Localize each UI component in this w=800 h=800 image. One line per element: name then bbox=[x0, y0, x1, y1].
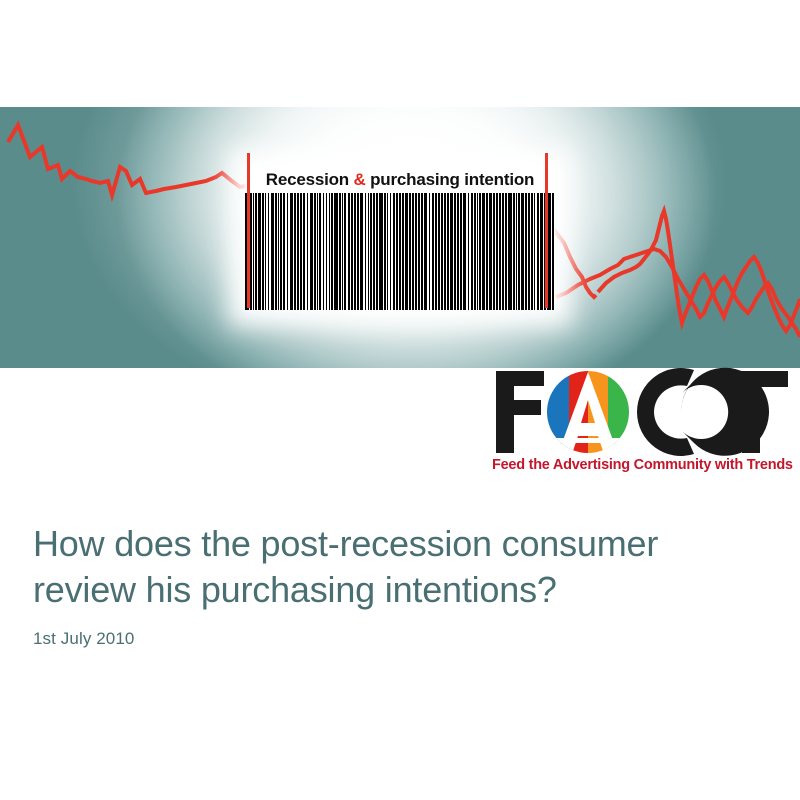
barcode-bar bbox=[412, 193, 414, 310]
barcode-bar bbox=[290, 193, 294, 310]
barcode-bar bbox=[516, 193, 517, 310]
barcode-graphic: Recession & purchasing intention bbox=[245, 167, 555, 310]
barcode-bar bbox=[314, 193, 316, 310]
barcode-bar bbox=[307, 193, 309, 310]
barcode-bar bbox=[376, 193, 378, 310]
barcode-bar bbox=[334, 193, 338, 310]
fact-tagline: Feed the Advertising Community with Tren… bbox=[492, 457, 792, 473]
barcode-bar bbox=[518, 193, 520, 310]
barcode-bar bbox=[265, 193, 266, 310]
barcode-bar bbox=[317, 193, 318, 310]
barcode-bar bbox=[268, 193, 270, 310]
barcode-bar bbox=[326, 193, 328, 310]
page-date: 1st July 2010 bbox=[33, 629, 763, 649]
logo-letter-a bbox=[547, 371, 631, 454]
barcode-bar bbox=[438, 193, 439, 310]
barcode-bar bbox=[540, 193, 543, 310]
barcode-bar bbox=[468, 193, 470, 310]
barcode-bar bbox=[450, 193, 453, 310]
barcode-bars bbox=[245, 193, 555, 310]
logo-letter-f bbox=[496, 371, 544, 453]
barcode-bar bbox=[390, 193, 392, 310]
barcode-bar bbox=[357, 193, 359, 310]
barcode-bar bbox=[418, 193, 419, 310]
barcode-bar bbox=[552, 193, 554, 310]
barcode-bar bbox=[379, 193, 383, 310]
barcode-bar bbox=[373, 193, 375, 310]
barcode-bar bbox=[393, 193, 395, 310]
barcode-bar bbox=[250, 193, 252, 310]
barcode-bar bbox=[253, 193, 254, 310]
barcode-bar bbox=[424, 193, 428, 310]
barcode-bar bbox=[513, 193, 515, 310]
barcode-bar bbox=[505, 193, 507, 310]
barcode-bar bbox=[319, 193, 321, 310]
barcode-bar bbox=[493, 193, 495, 310]
barcode-bar bbox=[342, 193, 343, 310]
barcode-accent-line-left bbox=[247, 153, 250, 308]
barcode-bar bbox=[463, 193, 467, 310]
barcode-bar bbox=[429, 193, 431, 310]
barcode-bar bbox=[331, 193, 333, 310]
barcode-bar bbox=[421, 193, 423, 310]
barcode-bar bbox=[477, 193, 478, 310]
barcode-bar bbox=[370, 193, 372, 310]
barcode-bar bbox=[496, 193, 497, 310]
barcode-bar bbox=[454, 193, 456, 310]
barcode-bar bbox=[432, 193, 434, 310]
barcode-bar bbox=[521, 193, 523, 310]
barcode-bar bbox=[275, 193, 277, 310]
barcode-bar bbox=[460, 193, 462, 310]
barcode-title-ampersand: & bbox=[354, 170, 366, 189]
barcode-bar bbox=[339, 193, 341, 310]
barcode-bar bbox=[300, 193, 302, 310]
barcode-bar bbox=[402, 193, 404, 310]
barcode-bar bbox=[396, 193, 398, 310]
barcode-bar bbox=[474, 193, 476, 310]
barcode-bar bbox=[351, 193, 353, 310]
barcode-bar bbox=[360, 193, 363, 310]
barcode-bar bbox=[441, 193, 443, 310]
page-title: How does the post-recession consumer rev… bbox=[33, 521, 763, 613]
barcode-bar bbox=[303, 193, 305, 310]
barcode-bar bbox=[499, 193, 501, 310]
barcode-title: Recession & purchasing intention bbox=[245, 170, 555, 190]
barcode-bar bbox=[479, 193, 481, 310]
barcode-bar bbox=[405, 193, 408, 310]
barcode-bar bbox=[283, 193, 285, 310]
barcode-bar bbox=[415, 193, 417, 310]
logo-a-baseline-gap bbox=[547, 438, 631, 443]
barcode-title-prefix: Recession bbox=[266, 170, 354, 189]
barcode-bar bbox=[525, 193, 527, 310]
barcode-bar bbox=[294, 193, 296, 310]
barcode-bar bbox=[502, 193, 504, 310]
recession-banner: Recession & purchasing intention bbox=[0, 107, 800, 368]
barcode-bar bbox=[271, 193, 274, 310]
barcode-bar bbox=[384, 193, 386, 310]
barcode-bar bbox=[457, 193, 458, 310]
barcode-bar bbox=[537, 193, 539, 310]
barcode-bar bbox=[471, 193, 473, 310]
title-block: How does the post-recession consumer rev… bbox=[33, 521, 763, 649]
barcode-bar bbox=[435, 193, 437, 310]
barcode-bar bbox=[329, 193, 330, 310]
barcode-bar bbox=[482, 193, 484, 310]
barcode-bar bbox=[278, 193, 279, 310]
barcode-bar bbox=[368, 193, 369, 310]
barcode-bar bbox=[297, 193, 298, 310]
barcode-bar bbox=[365, 193, 367, 310]
barcode-bar bbox=[528, 193, 530, 310]
barcode-bar bbox=[409, 193, 411, 310]
barcode-bar bbox=[258, 193, 260, 310]
barcode-bar bbox=[486, 193, 488, 310]
barcode-title-suffix: purchasing intention bbox=[366, 170, 535, 189]
barcode-bar bbox=[387, 193, 388, 310]
barcode-bar bbox=[508, 193, 512, 310]
barcode-bar bbox=[310, 193, 313, 310]
barcode-bar bbox=[348, 193, 350, 310]
fact-wordmark bbox=[492, 366, 792, 458]
barcode-bar bbox=[489, 193, 492, 310]
barcode-bar bbox=[262, 193, 264, 310]
barcode-bar bbox=[344, 193, 346, 310]
barcode-bar bbox=[447, 193, 449, 310]
barcode-bar bbox=[534, 193, 535, 310]
barcode-bar bbox=[531, 193, 533, 310]
barcode-bar bbox=[354, 193, 356, 310]
fact-logo: Feed the Advertising Community with Tren… bbox=[492, 368, 792, 480]
barcode-bar bbox=[280, 193, 282, 310]
barcode-bar bbox=[444, 193, 446, 310]
barcode-accent-line-right bbox=[545, 153, 548, 308]
barcode-bar bbox=[287, 193, 289, 310]
barcode-bar bbox=[399, 193, 400, 310]
barcode-bar bbox=[323, 193, 325, 310]
barcode-bar bbox=[255, 193, 257, 310]
